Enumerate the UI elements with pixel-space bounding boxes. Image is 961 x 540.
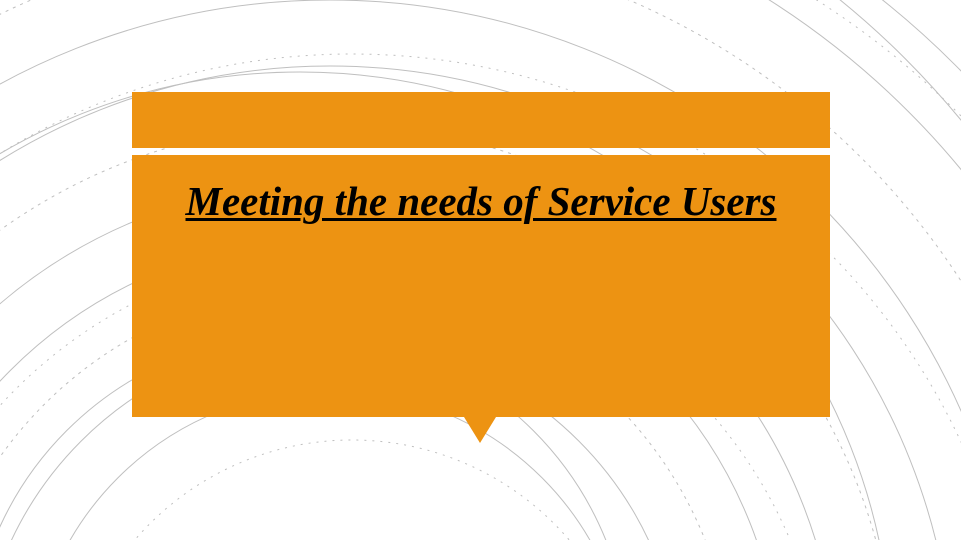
banner-body	[132, 155, 830, 417]
presentation-slide: Meeting the needs of Service Users	[0, 0, 961, 540]
banner-pointer-triangle	[464, 417, 496, 443]
banner-top-bar	[132, 92, 830, 148]
